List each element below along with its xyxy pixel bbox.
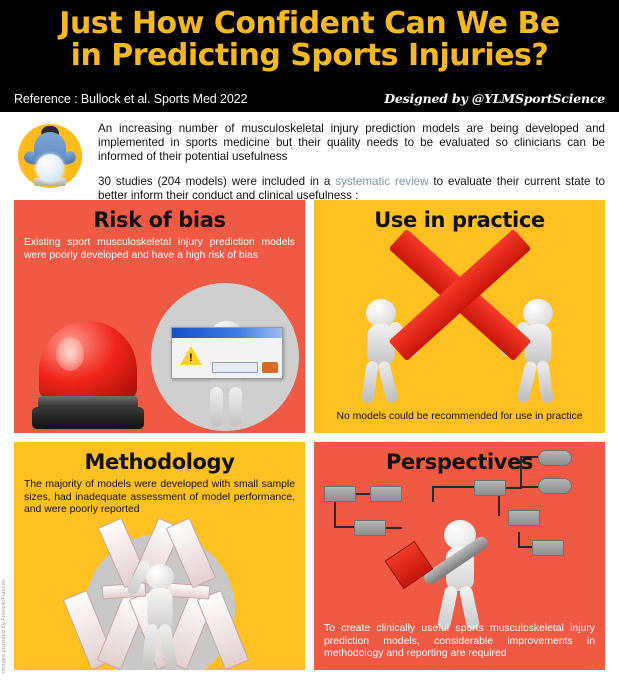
- panel-body-methodology: The majority of models were developed wi…: [24, 479, 295, 517]
- red-cross-rejection-icon: [314, 200, 605, 433]
- panel-body-risk-of-bias: Existing sport musculoskeletal injury pr…: [24, 237, 295, 262]
- panel-footer-use-in-practice: No models could be recommended for use i…: [324, 411, 595, 424]
- error-dialog-icon: !: [171, 327, 283, 379]
- intro-p2-part1: 30 studies (204 models) were included in…: [98, 175, 335, 188]
- crystal-ball-fortune-teller-icon: [14, 118, 88, 194]
- header-credits: Reference : Bullock et al. Sports Med 20…: [0, 91, 619, 106]
- panel-risk-of-bias: ! Risk of bias Existing sport musculoske…: [14, 200, 305, 433]
- house-of-cards-icon: [14, 442, 305, 670]
- image-source-credit: Images provided by Freepik/Flaticon: [1, 579, 7, 673]
- panel-title-methodology: Methodology: [24, 450, 295, 474]
- systematic-review-highlight: systematic review: [335, 175, 428, 188]
- emergency-siren-and-error-dialog-icon: !: [14, 200, 305, 433]
- page-title: Just How Confident Can We Be in Predicti…: [10, 6, 609, 72]
- panel-title-risk-of-bias: Risk of bias: [24, 208, 295, 232]
- page-title-line-2: in Predicting Sports Injuries?: [16, 40, 603, 72]
- panel-title-perspectives: Perspectives: [324, 450, 595, 474]
- intro-paragraph-2: 30 studies (204 models) were included in…: [98, 175, 605, 203]
- panel-footer-perspectives: To create clinically useful sports muscu…: [324, 623, 595, 661]
- intro-section: An increasing number of musculoskeletal …: [0, 112, 619, 200]
- page-title-line-1: Just How Confident Can We Be: [16, 8, 603, 40]
- designer-attribution: Designed by @YLMSportScience: [384, 91, 605, 106]
- panel-grid: ! Risk of bias Existing sport musculoske…: [0, 200, 619, 670]
- panel-perspectives: Perspectives To create clinically useful…: [314, 442, 605, 670]
- panel-methodology: Methodology The majority of models were …: [14, 442, 305, 670]
- panel-use-in-practice: Use in practice No models could be recom…: [314, 200, 605, 433]
- reference-citation: Reference : Bullock et al. Sports Med 20…: [14, 92, 247, 106]
- red-x-mark-icon: [385, 240, 535, 350]
- header-banner: Just How Confident Can We Be in Predicti…: [0, 0, 619, 112]
- intro-text-block: An increasing number of musculoskeletal …: [98, 118, 605, 203]
- panel-title-use-in-practice: Use in practice: [324, 208, 595, 232]
- intro-paragraph-1: An increasing number of musculoskeletal …: [98, 122, 605, 165]
